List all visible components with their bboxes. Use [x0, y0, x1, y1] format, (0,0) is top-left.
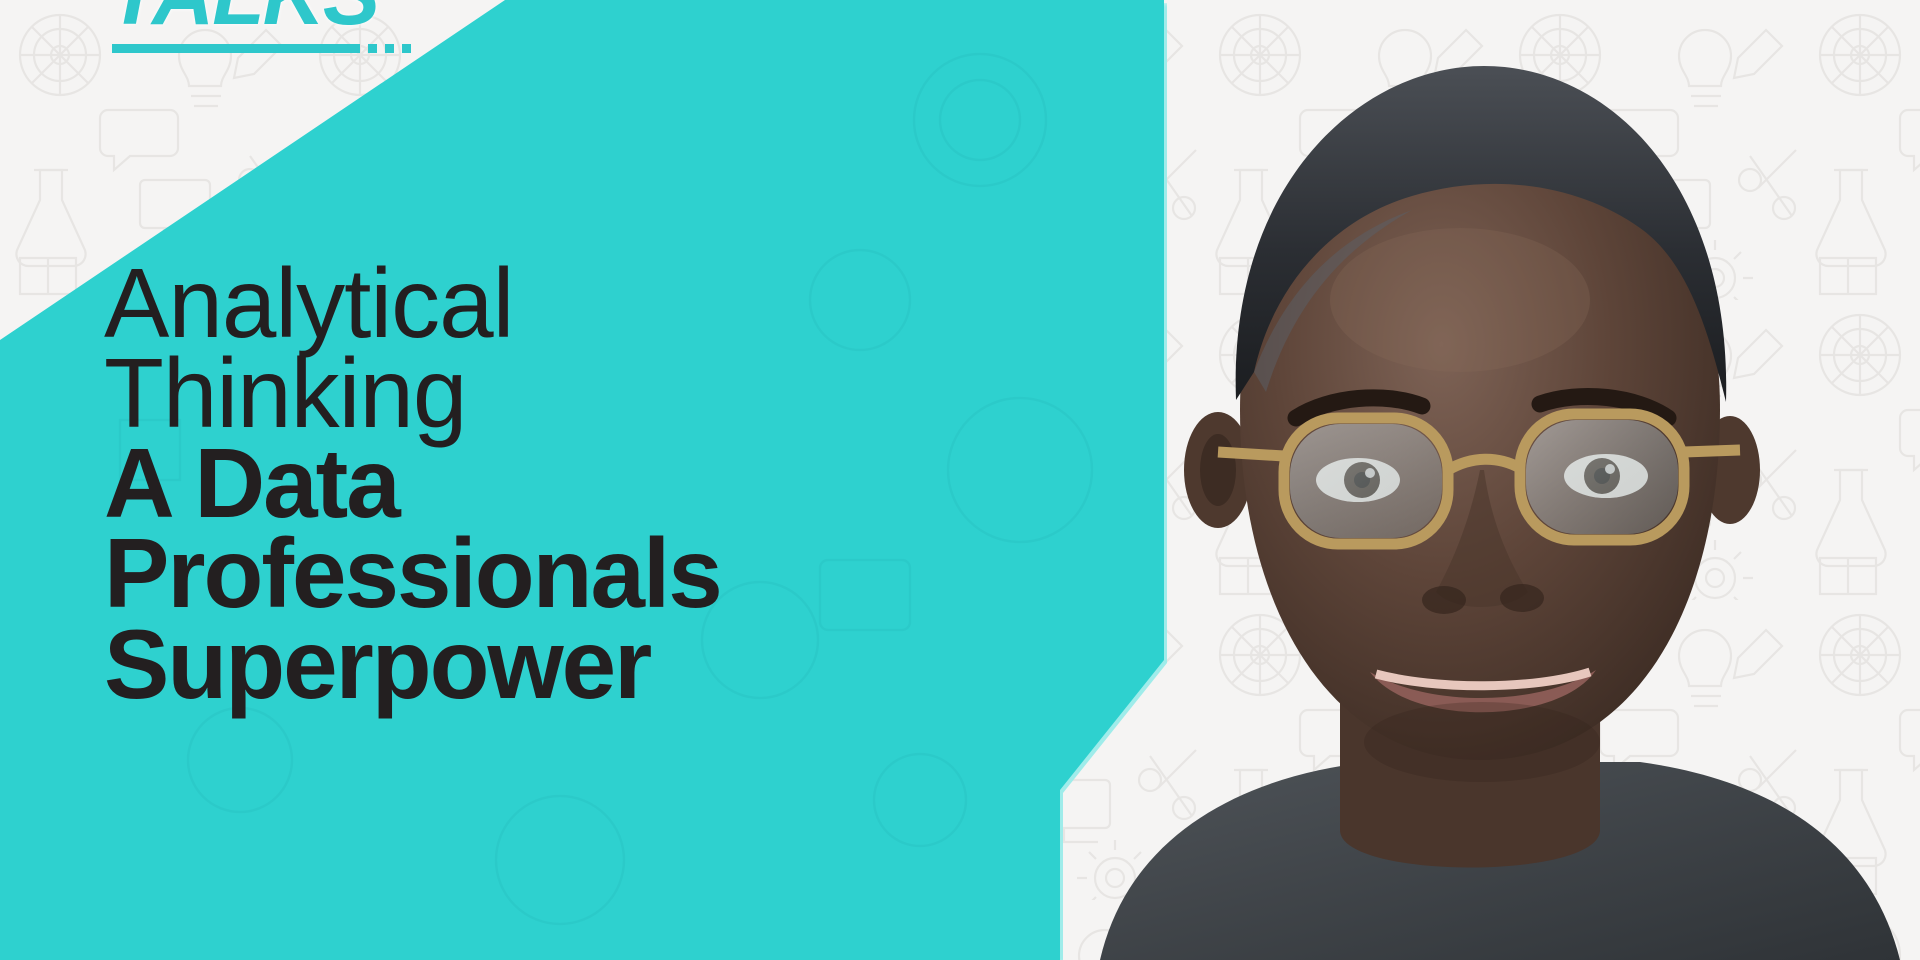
title-line-1: Analytical: [104, 258, 964, 348]
talks-logo-rule-group: [112, 44, 438, 53]
event-banner: TALKS Analytical Thinking A Data Profess…: [0, 0, 1920, 960]
talks-logo-dot-3: [402, 44, 411, 53]
title-line-3: A Data: [104, 438, 964, 528]
talks-logo-dot-1: [368, 44, 377, 53]
talks-logo: TALKS: [108, 0, 438, 62]
page-title: Analytical Thinking A Data Professionals…: [104, 258, 964, 709]
speaker-portrait: [1040, 0, 1920, 960]
talks-logo-dot-2: [385, 44, 394, 53]
title-line-4: Professionals: [104, 528, 964, 618]
talks-logo-text: TALKS: [108, 0, 438, 38]
title-line-5: Superpower: [104, 619, 964, 709]
talks-logo-underline: [112, 44, 360, 53]
title-line-2: Thinking: [104, 348, 964, 438]
